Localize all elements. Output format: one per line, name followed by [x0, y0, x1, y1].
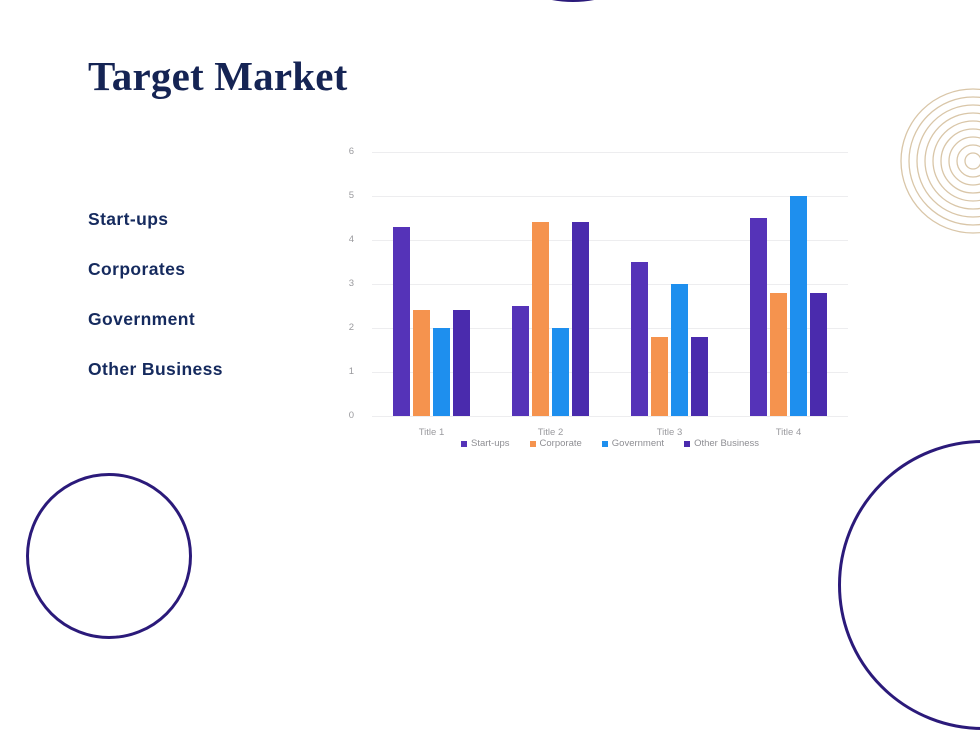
y-axis-tick-label: 6 [332, 146, 354, 157]
circle-outline-bottom-left-icon [26, 473, 192, 639]
bar-start-ups[interactable] [512, 306, 529, 416]
page-title: Target Market [88, 52, 348, 100]
bar-other-business[interactable] [453, 310, 470, 416]
chart-bar-groups: Title 1Title 2Title 3Title 4 [372, 152, 848, 416]
chart-plot-area: 6543210 Title 1Title 2Title 3Title 4 [372, 152, 848, 416]
x-axis-tick-label: Title 2 [491, 427, 610, 438]
bar-other-business[interactable] [810, 293, 827, 416]
y-axis-tick-label: 5 [332, 190, 354, 201]
x-axis-tick-label: Title 3 [610, 427, 729, 438]
bar-group: Title 2 [491, 152, 610, 416]
y-axis-tick-label: 4 [332, 234, 354, 245]
bar-corporate[interactable] [770, 293, 787, 416]
bar-start-ups[interactable] [750, 218, 767, 416]
circle-outline-top-icon [461, 0, 685, 2]
circle-outline-bottom-right-icon [838, 440, 980, 730]
x-axis-tick-label: Title 1 [372, 427, 491, 438]
y-axis-tick-label: 3 [332, 278, 354, 289]
bar-corporate[interactable] [532, 222, 549, 416]
bar-group: Title 4 [729, 152, 848, 416]
bar-other-business[interactable] [691, 337, 708, 416]
segment-item-government: Government [88, 305, 328, 355]
bar-group: Title 1 [372, 152, 491, 416]
legend-entry[interactable]: Other Business [684, 438, 759, 449]
legend-entry[interactable]: Corporate [530, 438, 582, 449]
bar-start-ups[interactable] [393, 227, 410, 416]
legend-swatch-icon [684, 441, 690, 447]
bar-other-business[interactable] [572, 222, 589, 416]
segment-item-corporates: Corporates [88, 255, 328, 305]
legend-entry[interactable]: Government [602, 438, 664, 449]
bar-corporate[interactable] [651, 337, 668, 416]
legend-swatch-icon [530, 441, 536, 447]
bar-corporate[interactable] [413, 310, 430, 416]
y-axis-tick-label: 1 [332, 366, 354, 377]
concentric-rings-right-icon [898, 88, 980, 234]
y-axis-tick-label: 0 [332, 410, 354, 421]
chart-legend: Start-upsCorporateGovernmentOther Busine… [372, 438, 848, 449]
legend-label: Other Business [694, 438, 759, 449]
segment-item-start-ups: Start-ups [88, 205, 328, 255]
x-axis-tick-label: Title 4 [729, 427, 848, 438]
gridline [372, 416, 848, 417]
legend-swatch-icon [461, 441, 467, 447]
segment-list: Start-ups Corporates Government Other Bu… [88, 205, 328, 405]
bar-chart: 6543210 Title 1Title 2Title 3Title 4 Sta… [348, 144, 858, 459]
bar-government[interactable] [433, 328, 450, 416]
legend-entry[interactable]: Start-ups [461, 438, 510, 449]
segment-item-other-business: Other Business [88, 355, 328, 405]
legend-label: Start-ups [471, 438, 510, 449]
legend-label: Corporate [540, 438, 582, 449]
bar-start-ups[interactable] [631, 262, 648, 416]
bar-government[interactable] [671, 284, 688, 416]
y-axis-tick-label: 2 [332, 322, 354, 333]
legend-swatch-icon [602, 441, 608, 447]
bar-government[interactable] [790, 196, 807, 416]
bar-government[interactable] [552, 328, 569, 416]
legend-label: Government [612, 438, 664, 449]
bar-group: Title 3 [610, 152, 729, 416]
